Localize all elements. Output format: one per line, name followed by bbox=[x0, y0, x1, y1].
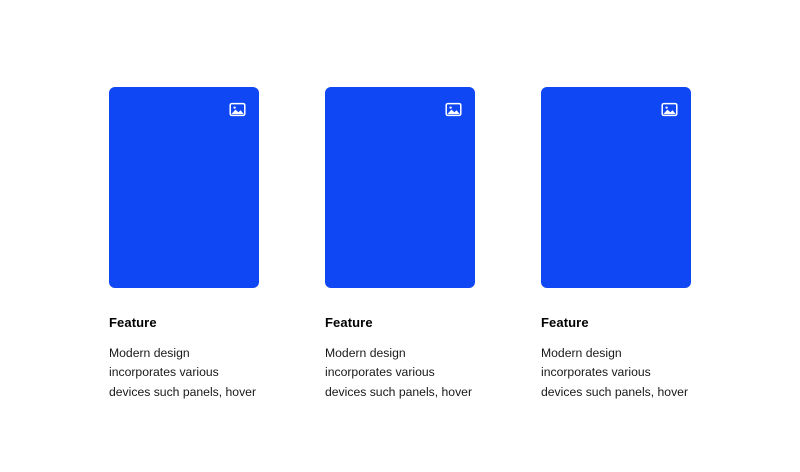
page-canvas: Feature Modern design incorporates vario… bbox=[0, 0, 800, 472]
card-title: Feature bbox=[109, 314, 157, 331]
card-media-placeholder[interactable] bbox=[541, 87, 691, 288]
image-placeholder-icon bbox=[445, 101, 462, 118]
feature-cards-row: Feature Modern design incorporates vario… bbox=[109, 87, 691, 402]
card-title: Feature bbox=[325, 314, 373, 331]
card-title: Feature bbox=[541, 314, 589, 331]
card-media-placeholder[interactable] bbox=[109, 87, 259, 288]
image-placeholder-icon bbox=[229, 101, 246, 118]
card-media-placeholder[interactable] bbox=[325, 87, 475, 288]
card-body-text: Modern design incorporates various devic… bbox=[541, 344, 709, 402]
card-body-text: Modern design incorporates various devic… bbox=[325, 344, 493, 402]
image-placeholder-icon bbox=[661, 101, 678, 118]
feature-card[interactable]: Feature Modern design incorporates vario… bbox=[325, 87, 475, 402]
card-body-text: Modern design incorporates various devic… bbox=[109, 344, 277, 402]
feature-card[interactable]: Feature Modern design incorporates vario… bbox=[541, 87, 691, 402]
feature-card[interactable]: Feature Modern design incorporates vario… bbox=[109, 87, 259, 402]
